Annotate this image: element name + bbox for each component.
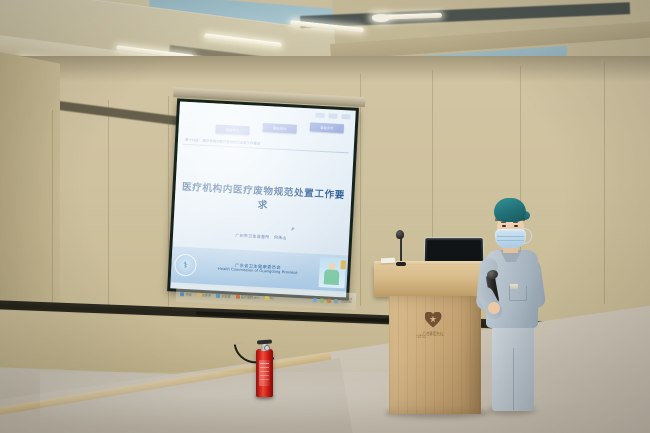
slide-nav-buttons: 课程学习 课后测试 课程评价 <box>183 117 350 141</box>
taskbar-item-media[interactable]: PC <box>264 295 274 299</box>
slide-title: 医疗机构内医疗废物规范处置工作要求 <box>180 179 347 216</box>
minimize-icon[interactable] <box>315 113 324 118</box>
screen-frame: 课程学习 课后测试 课程评价 第十六讲 医疗机构内医疗废物规范处置工作要求 医疗… <box>167 98 359 300</box>
taskbar-label: 浏览器 <box>221 293 230 297</box>
taskbar-label: 医疗废物.pptx <box>241 294 260 299</box>
extinguisher-label <box>259 360 270 386</box>
presenter-eye-left <box>502 225 506 227</box>
nav-button-course-rating[interactable]: 课程评价 <box>310 122 344 133</box>
shield-icon[interactable] <box>327 298 331 302</box>
nav-button-course-study[interactable]: 课程学习 <box>215 124 249 135</box>
face-mask-icon <box>495 229 526 248</box>
ceiling-spotlight-icon <box>372 14 390 22</box>
surgical-cap-icon <box>494 198 526 222</box>
maximize-icon[interactable] <box>328 113 337 118</box>
heart-with-star-icon <box>425 312 442 328</box>
media-icon <box>264 295 268 299</box>
podium-paper <box>381 258 395 263</box>
wall-panel-seam <box>604 62 605 304</box>
mouse-cursor-icon <box>291 227 295 232</box>
podium-logo-en: GUANGZHOU MEDICAL CENTER <box>416 335 450 339</box>
wall-panel-seam <box>108 100 109 308</box>
trouser-seam <box>513 348 514 410</box>
conference-hall-photo: 课程学习 课后测试 课程评价 第十六讲 医疗机构内医疗废物规范处置工作要求 医疗… <box>0 0 650 433</box>
podium-logo: 广州医疗中心 GUANGZHOU MEDICAL CENTER <box>416 310 450 340</box>
taskbar-label: 开始 <box>185 292 191 296</box>
clock-date: 2020/9/8 <box>341 301 352 304</box>
taskbar-tray: 下午 3:24 2020/9/8 <box>313 297 352 304</box>
wall-top-shadow <box>0 56 650 82</box>
extinguisher-gauge-icon <box>264 345 270 351</box>
gooseneck-microphone-icon <box>400 236 402 264</box>
footer-illustration-icon <box>319 257 347 288</box>
presentation-slide: 课程学习 课后测试 课程评价 第十六讲 医疗机构内医疗废物规范处置工作要求 医疗… <box>170 102 356 298</box>
slide-presenter-credit: 广州市卫生监督所 何炜山 <box>173 229 349 244</box>
nav-button-post-test[interactable]: 课后测试 <box>263 123 297 134</box>
footer-org: 广东省卫生健康委员会 Health Commission of Guangdon… <box>196 260 319 277</box>
star-cutout <box>430 316 437 323</box>
taskbar-item-browser[interactable]: 浏览器 <box>216 293 231 298</box>
breadcrumb-lecture-number: 第十六讲 <box>185 137 199 143</box>
close-icon[interactable] <box>341 114 350 119</box>
folder-icon <box>196 292 200 296</box>
screen-surface: 课程学习 课后测试 课程评价 第十六讲 医疗机构内医疗废物规范处置工作要求 医疗… <box>170 102 356 298</box>
name-badge-icon <box>510 284 518 289</box>
avatar-body <box>324 269 340 285</box>
microphone-capsule-icon <box>396 230 404 239</box>
presenter <box>476 198 548 416</box>
presenter-eyebrow-right <box>513 222 518 223</box>
slide-footer: ⚕ 广东省卫生健康委员会 Health Commission of Guangd… <box>171 246 349 291</box>
browser-icon <box>216 293 220 297</box>
windows-start-icon <box>180 292 184 296</box>
network-icon[interactable] <box>313 298 317 302</box>
volume-icon[interactable] <box>320 298 324 302</box>
taskbar-item-start[interactable]: 开始 <box>180 292 192 297</box>
taskbar-item-document[interactable]: 医疗废物.pptx <box>235 294 259 299</box>
projection-screen: 课程学习 课后测试 课程评价 第十六讲 医疗机构内医疗废物规范处置工作要求 医疗… <box>167 96 359 303</box>
microphone-base <box>396 262 406 266</box>
taskbar-clock[interactable]: 下午 3:24 2020/9/8 <box>341 298 352 304</box>
taskbar-label: 文件夹 <box>202 293 211 297</box>
wall-panel-seam <box>52 110 53 310</box>
laptop-screen <box>427 240 481 262</box>
avatar-side-tab <box>340 260 345 269</box>
battery-icon[interactable] <box>334 299 338 303</box>
taskbar-item-folder[interactable]: 文件夹 <box>196 292 211 297</box>
breadcrumb: 第十六讲 医疗机构内医疗废物规范处置工作要求 <box>183 137 349 154</box>
document-icon <box>235 294 239 298</box>
breadcrumb-lecture-title: 医疗机构内医疗废物规范处置工作要求 <box>202 138 260 146</box>
presenter-eye-right <box>514 225 518 227</box>
health-commission-emblem-icon: ⚕ <box>174 253 197 276</box>
presenter-eyebrow-left <box>501 222 506 223</box>
taskbar-label: PC <box>270 296 274 300</box>
mask-pleats <box>497 236 524 237</box>
wall-panel-seam <box>360 74 361 306</box>
